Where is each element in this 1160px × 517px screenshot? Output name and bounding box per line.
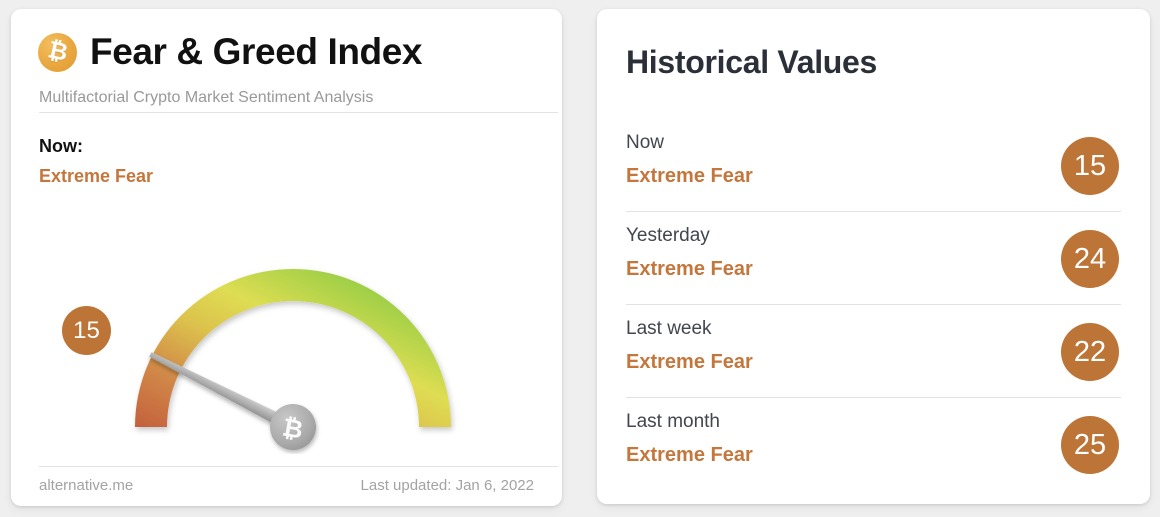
history-period-label: Now: [626, 132, 664, 154]
historical-values-title: Historical Values: [626, 44, 877, 81]
history-classification: Extreme Fear: [626, 351, 753, 374]
fear-greed-gauge-card: ₿ Fear & Greed Index Multifactorial Cryp…: [11, 9, 562, 506]
history-classification: Extreme Fear: [626, 444, 753, 467]
gauge-arc: [135, 269, 451, 427]
gauge-value-badge: 15: [62, 306, 111, 355]
history-value-badge: 22: [1061, 323, 1119, 381]
bitcoin-icon: ₿: [38, 33, 77, 72]
app-root: ₿ Fear & Greed Index Multifactorial Cryp…: [0, 0, 1160, 517]
history-value-badge: 15: [1061, 137, 1119, 195]
list-item: Last weekExtreme Fear22: [626, 305, 1121, 398]
now-classification: Extreme Fear: [39, 166, 153, 187]
gauge-value-text: 15: [73, 317, 100, 345]
history-classification: Extreme Fear: [626, 258, 753, 281]
list-item: Last monthExtreme Fear25: [626, 398, 1121, 490]
list-item: YesterdayExtreme Fear24: [626, 212, 1121, 305]
page-title: Fear & Greed Index: [90, 31, 422, 73]
history-period-label: Last week: [626, 318, 712, 340]
history-classification: Extreme Fear: [626, 165, 753, 188]
source-link[interactable]: alternative.me: [39, 477, 133, 494]
header-divider: [39, 112, 558, 113]
history-value-text: 24: [1074, 243, 1106, 276]
history-period-label: Yesterday: [626, 225, 710, 247]
gauge-card-header: ₿ Fear & Greed Index: [38, 31, 422, 73]
history-value-text: 15: [1074, 150, 1106, 183]
gauge-hub: ₿: [270, 404, 316, 450]
now-label: Now:: [39, 136, 83, 157]
historical-values-card: Historical Values NowExtreme Fear15Yeste…: [597, 9, 1150, 504]
history-value-badge: 24: [1061, 230, 1119, 288]
history-value-text: 22: [1074, 336, 1106, 369]
historical-values-list: NowExtreme Fear15YesterdayExtreme Fear24…: [626, 119, 1121, 490]
page-subtitle: Multifactorial Crypto Market Sentiment A…: [39, 89, 373, 107]
history-value-badge: 25: [1061, 416, 1119, 474]
last-updated-text: Last updated: Jan 6, 2022: [361, 477, 534, 494]
list-item: NowExtreme Fear15: [626, 119, 1121, 212]
footer-divider: [39, 466, 558, 467]
history-value-text: 25: [1074, 429, 1106, 462]
bitcoin-glyph: ₿: [46, 37, 70, 65]
history-period-label: Last month: [626, 411, 720, 433]
